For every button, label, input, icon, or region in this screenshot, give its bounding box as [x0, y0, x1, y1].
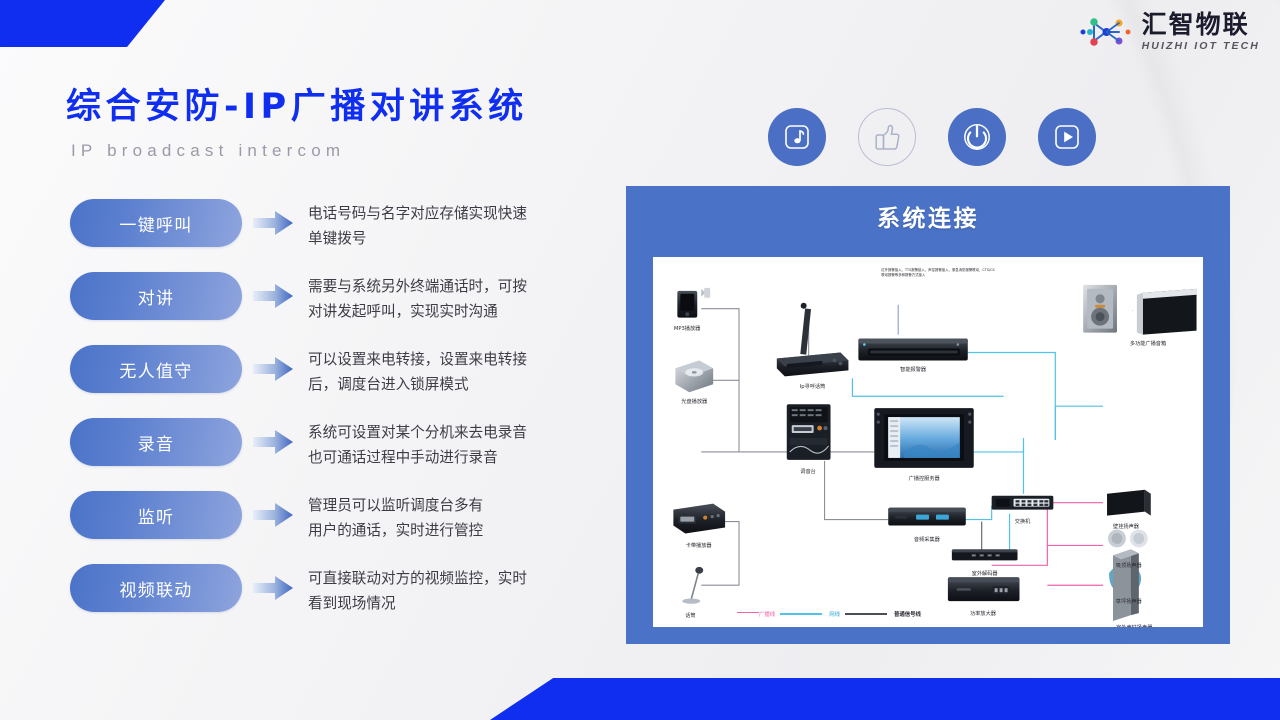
- label-mp3-player: MP3播放器: [674, 325, 700, 332]
- feature-pill[interactable]: 视频联动: [70, 564, 242, 612]
- label-broadcast-server: 广播控服务器: [909, 475, 940, 482]
- legend-signal-line: 普通信号线: [894, 610, 921, 618]
- device-microphone: [682, 567, 703, 604]
- system-connection-panel: 系统连接: [626, 186, 1230, 644]
- device-cd-player: [675, 360, 713, 392]
- legend-network-line: 网线: [829, 610, 887, 618]
- page-title-block: 综合安防-IP广播对讲系统 IP broadcast intercom: [66, 78, 528, 161]
- label-cassette-player: 卡带播放器: [686, 542, 712, 549]
- device-audio-collector: [888, 508, 966, 526]
- label-smart-alarm: 智能报警器: [900, 366, 926, 373]
- label-microphone: 话筒: [685, 612, 695, 619]
- feature-pill[interactable]: 监听: [70, 491, 242, 539]
- label-ip-paging-mic: Ip寻呼话筒: [800, 383, 826, 390]
- device-ip-paging-mic: [777, 303, 849, 377]
- feature-description: 需要与系统另外终端通话时，可按 对讲发起呼叫，实现实时沟通: [304, 272, 630, 324]
- label-lawn-speaker: 草坪扬声器: [1116, 598, 1142, 605]
- feature-list: 一键呼叫 电话号码与名字对应存储实现快速 单键拨号 对讲 需要与系统另外终端通话…: [70, 199, 630, 637]
- label-cd-player: 光盘播放器: [681, 398, 707, 405]
- logo-brand-name: 汇智物联: [1142, 12, 1260, 37]
- feature-pill[interactable]: 一键呼叫: [70, 199, 242, 247]
- arrow-right-icon: [242, 345, 304, 393]
- legend-broadcast-line: 广播线: [759, 610, 822, 618]
- device-smart-alarm: [858, 339, 967, 361]
- list-item[interactable]: 监听 管理员可以监听调度台多有 用户的通话，实时进行管控: [70, 491, 630, 564]
- diagram-canvas: ·: [653, 257, 1203, 627]
- svg-text:·: ·: [1132, 308, 1133, 313]
- device-broadcast-server: [874, 408, 973, 468]
- feature-icon-row: [768, 108, 1096, 166]
- label-mixer-console: 调音台: [800, 468, 816, 475]
- label-power-amplifier: 功率放大器: [970, 610, 996, 617]
- label-audio-collector: 音频采集器: [914, 536, 940, 543]
- device-power-amplifier: [948, 577, 1020, 601]
- legend-swatch: [780, 613, 822, 614]
- list-item[interactable]: 无人值守 可以设置来电转接，设置来电转接 后，调度台进入锁屏模式: [70, 345, 630, 418]
- arrow-right-icon: [242, 199, 304, 247]
- brand-logo: 汇智物联 HUIZHI IOT TECH: [1078, 12, 1260, 52]
- feature-pill[interactable]: 对讲: [70, 272, 242, 320]
- label-outdoor-column-speaker: 室外声柱扬声器: [1116, 624, 1152, 627]
- feature-description: 系统可设置对某个分机来去电录音 也可通话过程中手动进行录音: [304, 418, 630, 470]
- logo-brand-tagline: HUIZHI IOT TECH: [1142, 41, 1260, 52]
- legend-broadcast-swatch: [737, 612, 759, 613]
- device-cassette-player: [673, 504, 725, 534]
- arrow-right-icon: [242, 564, 304, 612]
- arrow-right-icon: [242, 491, 304, 539]
- diagram-legend: 广播线 网线 普通信号线: [759, 610, 921, 618]
- device-ceiling-speaker: [1108, 530, 1148, 548]
- page-title: 综合安防-IP广播对讲系统: [66, 78, 528, 129]
- thumbs-up-icon[interactable]: [858, 108, 916, 166]
- alarm-note-text: 红外报警接入、TTS报警接入、声控报警接入、紧急消防报警联动、CTS/CS联动报…: [881, 268, 997, 278]
- list-item[interactable]: 录音 系统可设置对某个分机来去电录音 也可通话过程中手动进行录音: [70, 418, 630, 491]
- feature-description: 管理员可以监听调度台多有 用户的通话，实时进行管控: [304, 491, 630, 543]
- feature-description: 电话号码与名字对应存储实现快速 单键拨号: [304, 199, 630, 251]
- system-topology-diagram: ·: [653, 257, 1203, 627]
- page-subtitle: IP broadcast intercom: [71, 141, 528, 161]
- device-outdoor-column-speaker: [1113, 549, 1139, 621]
- feature-description: 可直接联动对方的视频监控，实时 看到现场情况: [304, 564, 630, 616]
- list-item[interactable]: 视频联动 可直接联动对方的视频监控，实时 看到现场情况: [70, 564, 630, 637]
- molecule-network-icon: [1078, 12, 1136, 52]
- label-network-switch: 交换机: [1015, 518, 1031, 525]
- legend-swatch: [845, 613, 887, 614]
- device-outdoor-decoder: [952, 549, 1018, 560]
- device-wall-box-speaker: [1137, 289, 1197, 335]
- device-mp3-player: [677, 288, 710, 318]
- play-icon[interactable]: [1038, 108, 1096, 166]
- list-item[interactable]: 一键呼叫 电话号码与名字对应存储实现快速 单键拨号: [70, 199, 630, 272]
- label-ceiling-speaker: 吸顶扬声器: [1116, 562, 1142, 569]
- label-multifunction-speaker: 多功能广播音箱: [1130, 340, 1166, 347]
- feature-pill[interactable]: 无人值守: [70, 345, 242, 393]
- arrow-right-icon: [242, 272, 304, 320]
- device-studio-speaker: [1083, 285, 1117, 333]
- feature-description: 可以设置来电转接，设置来电转接 后，调度台进入锁屏模式: [304, 345, 630, 397]
- device-wall-speaker: [1107, 490, 1151, 516]
- panel-title: 系统连接: [627, 187, 1229, 244]
- bottom-right-accent-shape: [490, 678, 1280, 720]
- label-wall-speaker: 壁挂扬声器: [1113, 523, 1139, 530]
- power-icon[interactable]: [948, 108, 1006, 166]
- arrow-right-icon: [242, 418, 304, 466]
- device-network-switch: [992, 496, 1054, 510]
- list-item[interactable]: 对讲 需要与系统另外终端通话时，可按 对讲发起呼叫，实现实时沟通: [70, 272, 630, 345]
- feature-pill[interactable]: 录音: [70, 418, 242, 466]
- label-outdoor-decoder: 室外解码器: [972, 570, 998, 577]
- music-note-icon[interactable]: [768, 108, 826, 166]
- topology-svg: ·: [653, 257, 1203, 627]
- device-mixer-console: [787, 404, 831, 460]
